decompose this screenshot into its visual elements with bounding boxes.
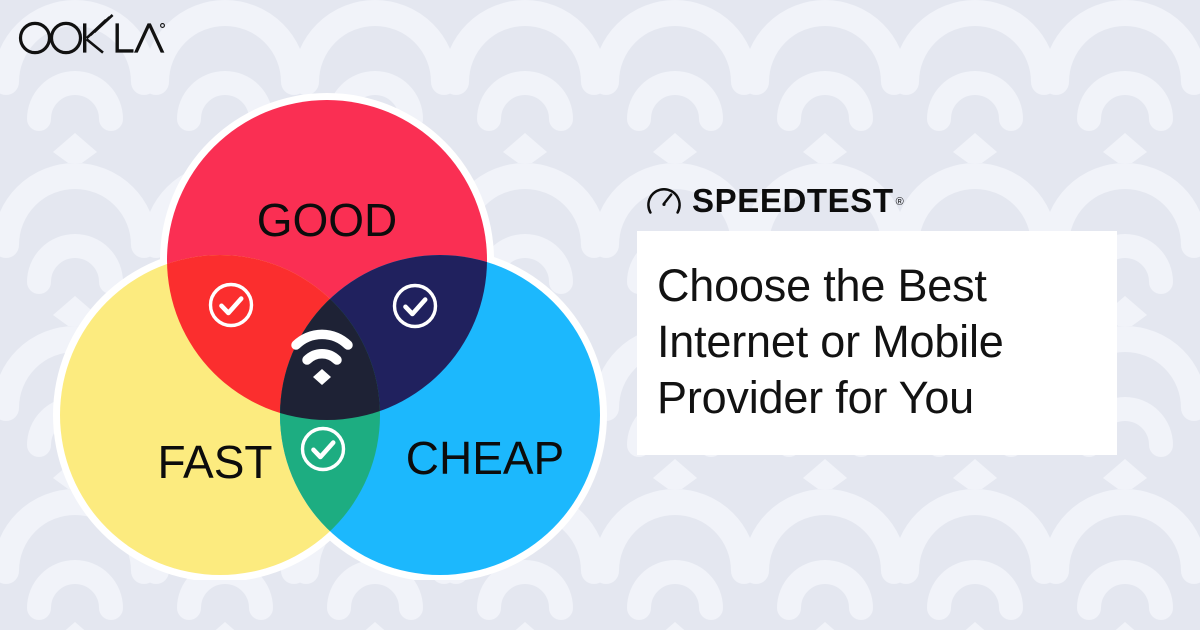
speedtest-logo: SPEEDTEST® <box>647 178 904 222</box>
page-title: Choose the Best Internet or Mobile Provi… <box>657 258 1087 425</box>
speedometer-icon <box>647 183 681 217</box>
venn-label-fast: FAST <box>157 436 272 488</box>
venn-label-good: GOOD <box>257 194 398 246</box>
registered-mark: ® <box>896 196 904 208</box>
speedtest-wordmark: SPEEDTEST <box>692 182 894 219</box>
promo-banner: GOOD FAST CHEAP SPEEDTEST® Choose the Be… <box>0 0 1200 630</box>
venn-diagram: GOOD FAST CHEAP <box>45 60 655 580</box>
venn-label-cheap: CHEAP <box>406 432 564 484</box>
ookla-logo <box>16 14 166 60</box>
headline-panel: Choose the Best Internet or Mobile Provi… <box>637 231 1117 455</box>
